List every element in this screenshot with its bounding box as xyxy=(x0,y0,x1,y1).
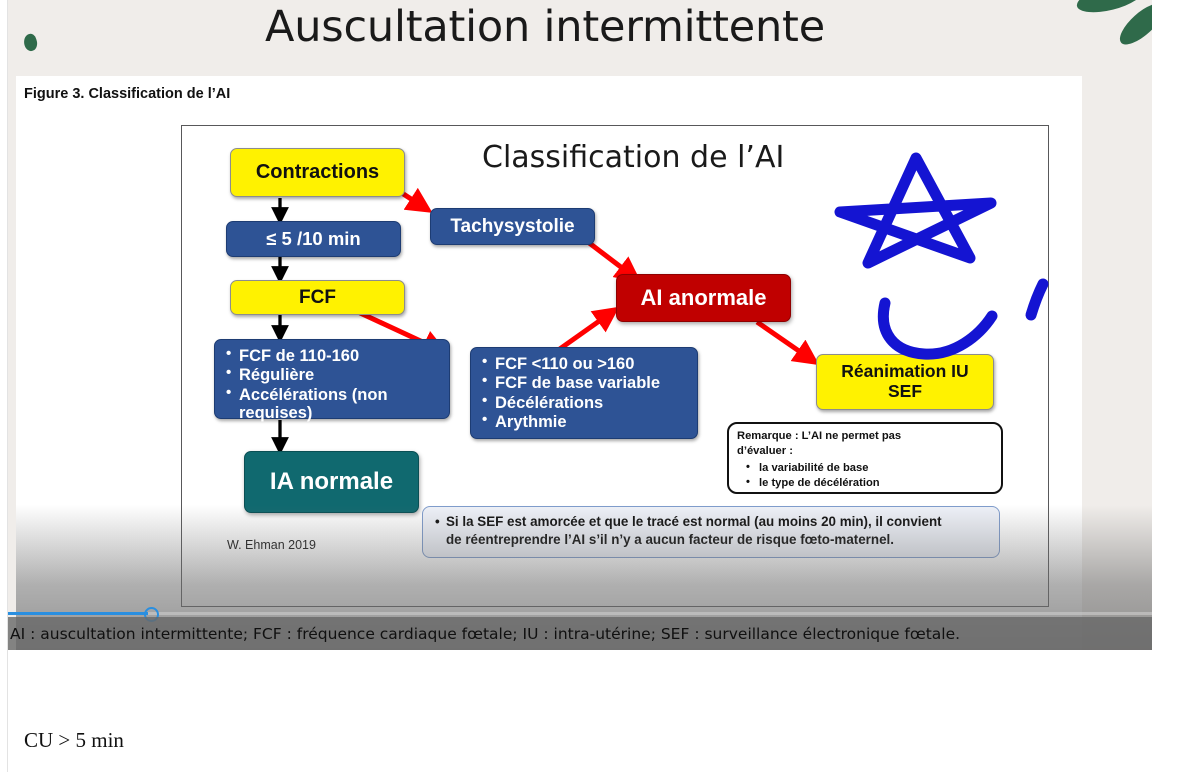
abbreviations-strip: AI : auscultation intermittente; FCF : f… xyxy=(8,617,1152,650)
note-line2: de réentreprendre l’AI s’il n’y a aucun … xyxy=(435,531,987,549)
figure-caption: Figure 3. Classification de l’AI xyxy=(24,86,230,102)
list-item: Régulière xyxy=(239,366,441,384)
box-reanimation-line2: SEF xyxy=(888,382,922,402)
list-item: Décélérations xyxy=(495,394,689,412)
normal-findings-list: FCF de 110-160 Régulière Accélérations (… xyxy=(225,347,441,423)
slide-surface: Auscultation intermittente Figure 3. Cla… xyxy=(8,0,1152,650)
remark-box: Remarque : L’AI ne permet pas d’évaluer … xyxy=(727,422,1003,494)
list-item: la variabilité de base xyxy=(759,461,993,476)
list-item: FCF <110 ou >160 xyxy=(495,355,689,373)
box-normal-findings: FCF de 110-160 Régulière Accélérations (… xyxy=(214,339,450,419)
document-page: Auscultation intermittente Figure 3. Cla… xyxy=(0,0,1182,772)
source-credit: W. Ehman 2019 xyxy=(227,538,316,552)
slide-title: Auscultation intermittente xyxy=(8,2,1082,52)
box-ia-normale: IA normale xyxy=(244,451,419,513)
remark-list: la variabilité de base le type de décélé… xyxy=(737,461,993,492)
list-item: Arythmie xyxy=(495,413,689,431)
list-item: Accélérations (non requises) xyxy=(239,386,441,423)
diagram-title: Classification de l’AI xyxy=(482,140,784,175)
box-tachysystolie: Tachysystolie xyxy=(430,208,595,245)
figure-panel: Figure 3. Classification de l’AI Classif… xyxy=(16,76,1082,650)
note-box: Si la SEF est amorcée et que le tracé es… xyxy=(422,506,1000,558)
box-fcf-label: FCF xyxy=(299,287,336,308)
list-item: le type de décélération xyxy=(759,476,993,491)
arrow-anormale-to-reanimation xyxy=(757,322,812,360)
box-fcf: FCF xyxy=(230,280,405,315)
remark-heading-line2: d’évaluer : xyxy=(737,444,993,459)
list-item: FCF de base variable xyxy=(495,374,689,392)
abbreviations-text: AI : auscultation intermittente; FCF : f… xyxy=(10,625,960,643)
box-reanimation-line1: Réanimation IU xyxy=(841,362,968,382)
box-reanimation-sef: Réanimation IU SEF xyxy=(816,354,994,410)
list-item: FCF de 110-160 xyxy=(239,347,441,365)
box-ai-anormale-label: AI anormale xyxy=(641,286,767,311)
box-contraction-rate-label: ≤ 5 /10 min xyxy=(266,229,360,250)
abnormal-findings-list: FCF <110 ou >160 FCF de base variable Dé… xyxy=(481,355,689,432)
box-ia-normale-label: IA normale xyxy=(270,469,393,496)
progress-track[interactable] xyxy=(8,612,1152,615)
progress-fill xyxy=(8,612,148,615)
box-tachysystolie-label: Tachysystolie xyxy=(450,216,574,237)
box-ai-anormale: AI anormale xyxy=(616,274,791,322)
note-line1: Si la SEF est amorcée et que le tracé es… xyxy=(435,513,987,531)
remark-heading-line1: Remarque : L’AI ne permet pas xyxy=(737,429,993,444)
arrow-tachysystolie-to-anormale xyxy=(584,239,634,277)
box-contractions-label: Contractions xyxy=(256,161,379,183)
diagram-frame: Classification de l’AI xyxy=(181,125,1049,607)
box-contractions: Contractions xyxy=(230,148,405,197)
document-body-text: CU > 5 min xyxy=(24,728,124,753)
box-contraction-rate: ≤ 5 /10 min xyxy=(226,221,401,257)
box-abnormal-findings: FCF <110 ou >160 FCF de base variable Dé… xyxy=(470,347,698,439)
